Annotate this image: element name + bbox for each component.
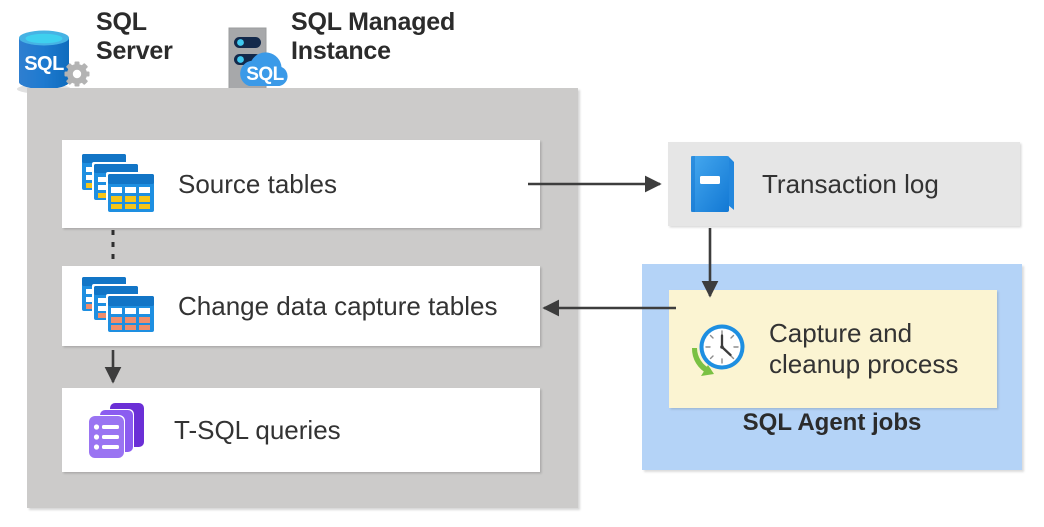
diagram-canvas: SQL SQL Server	[0, 0, 1044, 527]
connector-layer	[0, 0, 1044, 527]
